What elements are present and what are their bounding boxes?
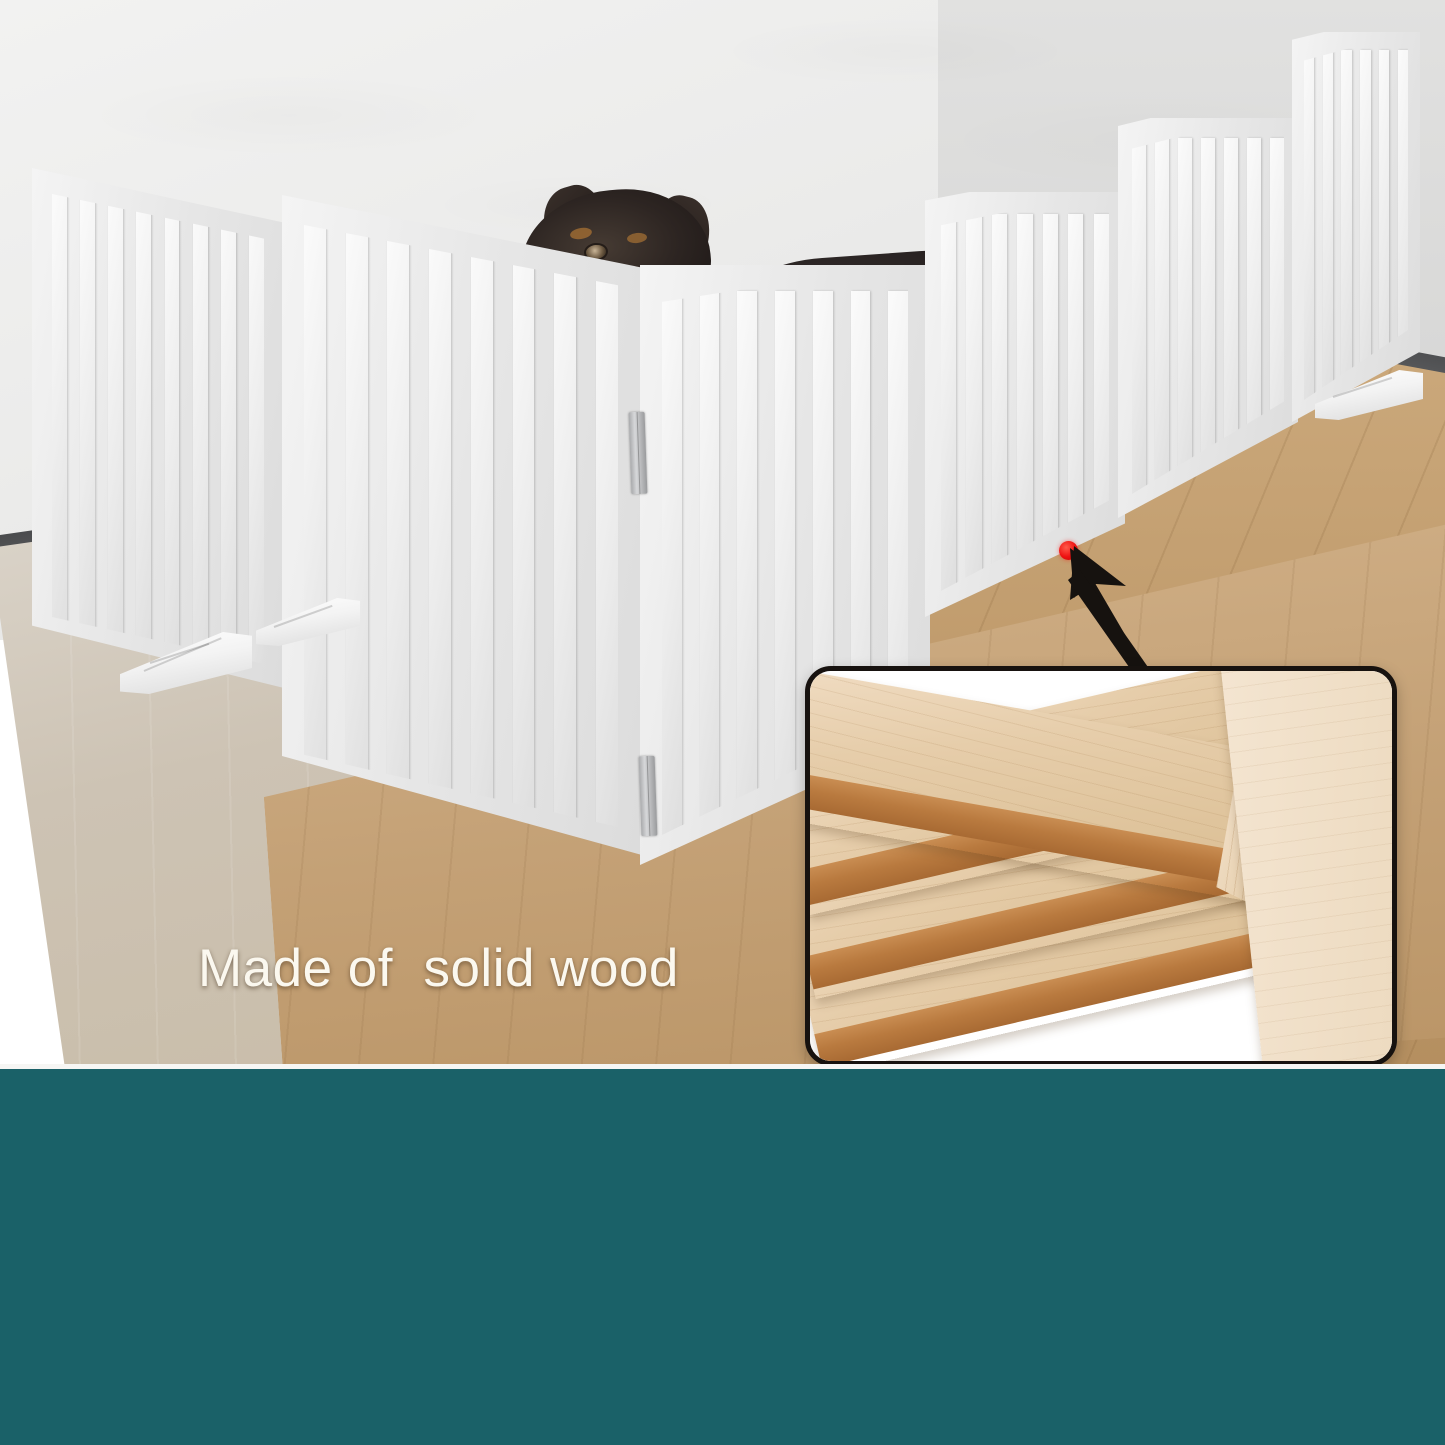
gate-panel-2 (282, 195, 642, 855)
metal-hinge-2 (639, 756, 658, 837)
gate-panel-1 (32, 168, 284, 688)
foot-wedge (1315, 370, 1423, 420)
foot-wedge (120, 632, 252, 694)
solid-wood-boards-inset (805, 666, 1397, 1066)
plastic-foot-mid (256, 598, 360, 646)
plastic-foot-left (120, 632, 252, 694)
panel-slats-1 (52, 194, 264, 664)
foot-wedge (256, 598, 360, 646)
panel-slats-2 (304, 225, 618, 827)
features-panel: 1. Limit your pet from running around 2.… (0, 1069, 1445, 1445)
product-photo-scene: Made of solid wood (0, 0, 1445, 1068)
metal-hinge-1 (629, 412, 648, 495)
caption-made-of-solid-wood: Made of solid wood (198, 938, 679, 999)
plastic-foot-right (1315, 370, 1423, 420)
product-image-root: Made of solid wood 1. Limit your pet fro… (0, 0, 1445, 1445)
